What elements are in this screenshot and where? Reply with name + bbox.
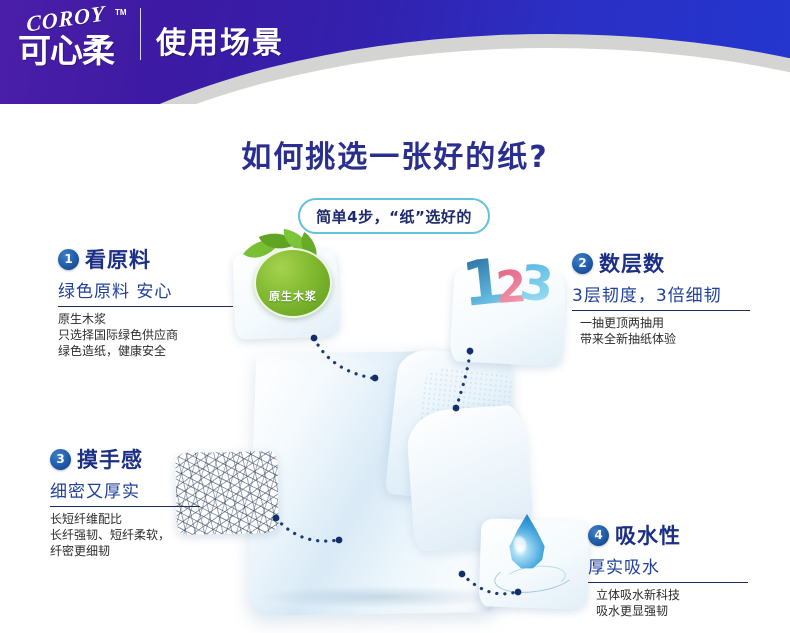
feature-1-body: 原生木浆 只选择国际绿色供应商 绿色造纸，健康安全 <box>58 311 233 359</box>
feature-block-2: 2 数层数 3层韧度，3倍细韧 一抽更顶两抽用 带来全新抽纸体验 <box>572 248 750 347</box>
subtitle-bubble: 简单4步，“纸”选好的 <box>298 198 490 234</box>
step-number-badge: 1 <box>58 249 79 270</box>
feature-2-body: 一抽更顶两抽用 带来全新抽纸体验 <box>572 315 750 347</box>
trademark-icon: TM <box>115 8 127 17</box>
feature-4-body-line: 立体吸水新科技 <box>596 587 748 603</box>
pulp-badge-label: 原生木浆 <box>269 288 317 304</box>
feature-block-4: 4 吸水性 厚实吸水 立体吸水新科技 吸水更显强韧 <box>588 520 748 619</box>
feature-2-body-line: 带来全新抽纸体验 <box>580 331 750 347</box>
layer-number-three: 3 <box>517 254 556 313</box>
feature-1-rule <box>58 306 233 307</box>
step-number-badge: 2 <box>572 253 593 274</box>
feature-2-subtitle: 3层韧度，3倍细韧 <box>572 281 750 306</box>
feature-1-body-line: 只选择国际绿色供应商 <box>58 327 233 343</box>
feature-1-subtitle: 绿色原料 安心 <box>58 277 233 302</box>
header-title: 使用场景 <box>156 18 284 62</box>
feature-4-heading: 4 吸水性 <box>588 520 748 550</box>
pulp-badge: 原生木浆 <box>254 248 332 318</box>
feature-3-body-line: 纤密更细韧 <box>50 543 200 559</box>
feature-4-rule <box>588 582 748 583</box>
feature-4-subtitle: 厚实吸水 <box>588 553 748 578</box>
logo-chinese-text: 可心柔 <box>18 24 114 72</box>
feature-1-body-line: 绿色造纸，健康安全 <box>58 343 233 359</box>
feature-3-title: 摸手感 <box>77 444 143 474</box>
feature-3-rule <box>50 506 200 507</box>
infographic-page: COROY TM 可心柔 使用场景 如何挑选一张好的纸? 简单4步，“纸”选好的… <box>0 0 790 633</box>
feature-3-body: 长短纤维配比 长纤强韧、短纤柔软， 纤密更细韧 <box>50 511 200 559</box>
page-title: 如何挑选一张好的纸? <box>0 132 790 176</box>
feature-3-subtitle: 细密又厚实 <box>50 477 200 502</box>
step-number-badge: 3 <box>50 449 71 470</box>
feature-4-body: 立体吸水新科技 吸水更显强韧 <box>588 587 748 619</box>
feature-4-body-line: 吸水更显强韧 <box>596 603 748 619</box>
feature-block-1: 1 看原料 绿色原料 安心 原生木浆 只选择国际绿色供应商 绿色造纸，健康安全 <box>58 244 233 359</box>
feature-4-title: 吸水性 <box>615 520 681 550</box>
subtitle-bubble-text: 简单4步，“纸”选好的 <box>316 206 472 227</box>
step-number-badge: 4 <box>588 525 609 546</box>
feature-2-rule <box>572 310 750 311</box>
feature-block-3: 3 摸手感 细密又厚实 长短纤维配比 长纤强韧、短纤柔软， 纤密更细韧 <box>50 444 200 559</box>
tissue-drop-shadow <box>258 586 506 608</box>
header-divider <box>140 8 141 60</box>
feature-1-body-line: 原生木浆 <box>58 311 233 327</box>
feature-3-body-line: 长短纤维配比 <box>50 511 200 527</box>
feature-2-title: 数层数 <box>599 248 665 278</box>
feature-2-body-line: 一抽更顶两抽用 <box>580 315 750 331</box>
feature-1-title: 看原料 <box>85 244 151 274</box>
brand-logo: COROY TM 可心柔 <box>18 4 136 66</box>
feature-3-heading: 3 摸手感 <box>50 444 200 474</box>
feature-3-body-line: 长纤强韧、短纤柔软， <box>50 527 200 543</box>
feature-2-heading: 2 数层数 <box>572 248 750 278</box>
feature-1-heading: 1 看原料 <box>58 244 233 274</box>
page-header: COROY TM 可心柔 使用场景 <box>0 0 790 104</box>
